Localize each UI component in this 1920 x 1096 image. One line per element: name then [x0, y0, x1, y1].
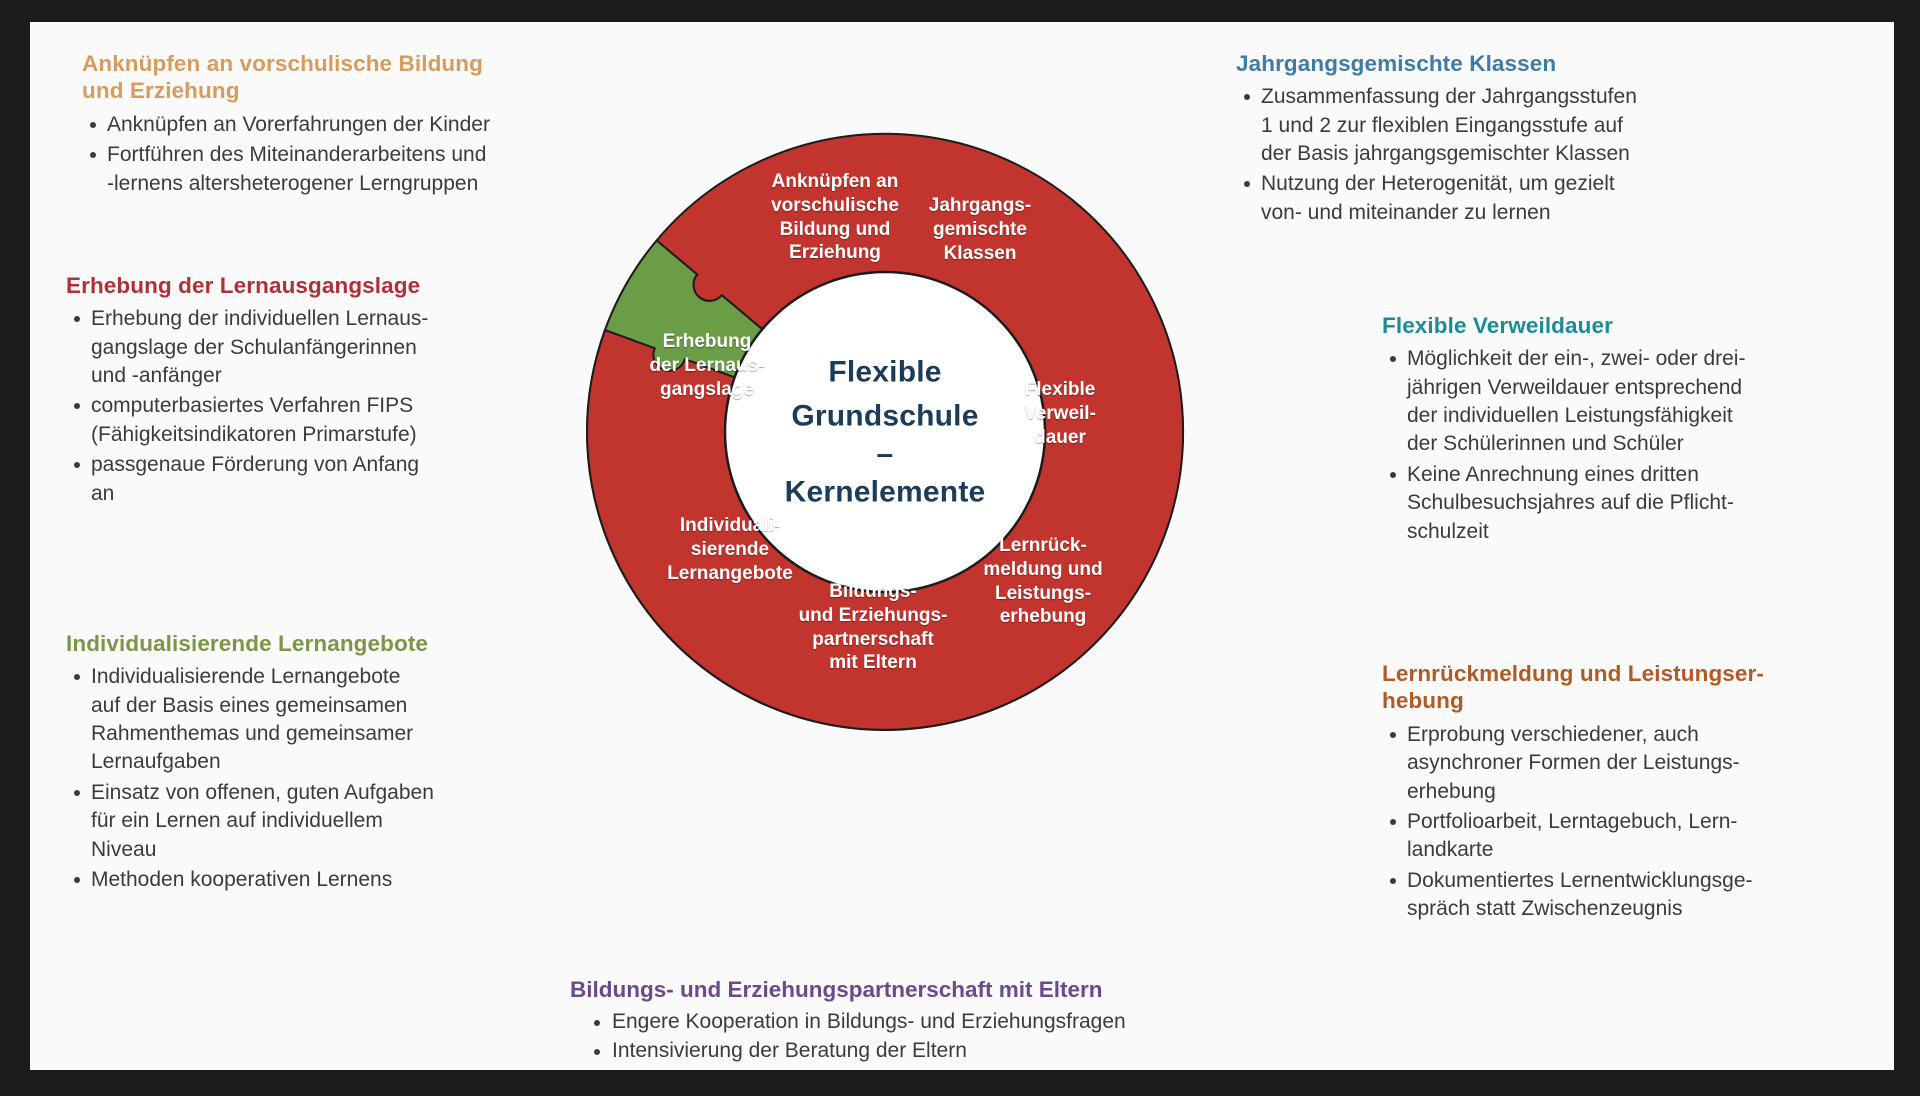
- list-item: Nutzung der Heterogenität, um gezieltvon…: [1236, 170, 1756, 227]
- list-item: Erhebung der individuellen Lernaus-gangs…: [66, 305, 536, 390]
- block-erhebung-heading: Erhebung der Lernausgangslage: [66, 272, 536, 299]
- block-jahrgangs: Jahrgangsgemischte Klassen Zusammenfassu…: [1236, 50, 1756, 229]
- block-anknuepfen-list: Anknüpfen an Vorerfahrungen der Kinder F…: [82, 111, 622, 198]
- list-item: Intensivierung der Beratung der Eltern: [570, 1037, 1390, 1066]
- list-item: Individualisierende Lernangeboteauf der …: [66, 663, 556, 776]
- kernelemente-wheel: Flexible Grundschule – Kernelemente Ankn…: [575, 122, 1195, 742]
- list-item: Methoden kooperativen Lernens: [66, 866, 556, 894]
- center-line-1: Flexible: [735, 350, 1035, 394]
- wheel-center-text: Flexible Grundschule – Kernelemente: [735, 350, 1035, 514]
- block-lernrueck-list: Erprobung verschiedener, auchasynchroner…: [1382, 721, 1892, 923]
- block-anknuepfen-heading: Anknüpfen an vorschulische Bildungund Er…: [82, 50, 622, 105]
- list-item: Zusammenfassung der Jahrgangsstufen1 und…: [1236, 83, 1756, 168]
- block-bildungspartner: Bildungs- und Erziehungspartnerschaft mi…: [570, 977, 1390, 1066]
- list-item: Einsatz von offenen, guten Aufgabenfür e…: [66, 779, 556, 864]
- list-item: Anknüpfen an Vorerfahrungen der Kinder: [82, 111, 622, 139]
- list-item: Erprobung verschiedener, auchasynchroner…: [1382, 721, 1892, 806]
- block-erhebung: Erhebung der Lernausgangslage Erhebung d…: [66, 272, 536, 510]
- block-individual-list: Individualisierende Lernangeboteauf der …: [66, 663, 556, 894]
- block-verweildauer-heading: Flexible Verweildauer: [1382, 312, 1882, 339]
- list-item: Fortführen des Miteinanderarbeitens und-…: [82, 141, 622, 198]
- list-item: Keine Anrechnung eines drittenSchulbesuc…: [1382, 461, 1882, 546]
- block-bildungspartner-heading: Bildungs- und Erziehungspartnerschaft mi…: [570, 977, 1390, 1003]
- block-lernrueck-heading: Lernrückmeldung und Leistungser-hebung: [1382, 660, 1892, 715]
- list-item: Engere Kooperation in Bildungs- und Erzi…: [570, 1008, 1390, 1037]
- poster-frame: Anknüpfen an vorschulische Bildungund Er…: [0, 0, 1920, 1096]
- center-line-2: Grundschule: [735, 394, 1035, 438]
- block-individual: Individualisierende Lernangebote Individ…: [66, 630, 556, 896]
- center-line-3: Kernelemente: [735, 470, 1035, 514]
- list-item: Dokumentiertes Lernentwicklungsge-spräch…: [1382, 867, 1892, 924]
- block-verweildauer-list: Möglichkeit der ein-, zwei- oder drei-jä…: [1382, 345, 1882, 545]
- block-individual-heading: Individualisierende Lernangebote: [66, 630, 556, 657]
- block-erhebung-list: Erhebung der individuellen Lernaus-gangs…: [66, 305, 536, 507]
- block-bildungspartner-list: Engere Kooperation in Bildungs- und Erzi…: [570, 1008, 1390, 1066]
- list-item: passgenaue Förderung von Anfangan: [66, 451, 536, 508]
- block-jahrgangs-list: Zusammenfassung der Jahrgangsstufen1 und…: [1236, 83, 1756, 227]
- list-item: computerbasiertes Verfahren FIPS(Fähigke…: [66, 392, 536, 449]
- list-item: Möglichkeit der ein-, zwei- oder drei-jä…: [1382, 345, 1882, 458]
- block-lernrueck: Lernrückmeldung und Leistungser-hebung E…: [1382, 660, 1892, 925]
- block-anknuepfen: Anknüpfen an vorschulische Bildungund Er…: [82, 50, 622, 200]
- list-item: Portfolioarbeit, Lerntagebuch, Lern-land…: [1382, 808, 1892, 865]
- block-verweildauer: Flexible Verweildauer Möglichkeit der ei…: [1382, 312, 1882, 548]
- center-dash: –: [735, 437, 1035, 470]
- block-jahrgangs-heading: Jahrgangsgemischte Klassen: [1236, 50, 1756, 77]
- poster-canvas: Anknüpfen an vorschulische Bildungund Er…: [30, 22, 1894, 1070]
